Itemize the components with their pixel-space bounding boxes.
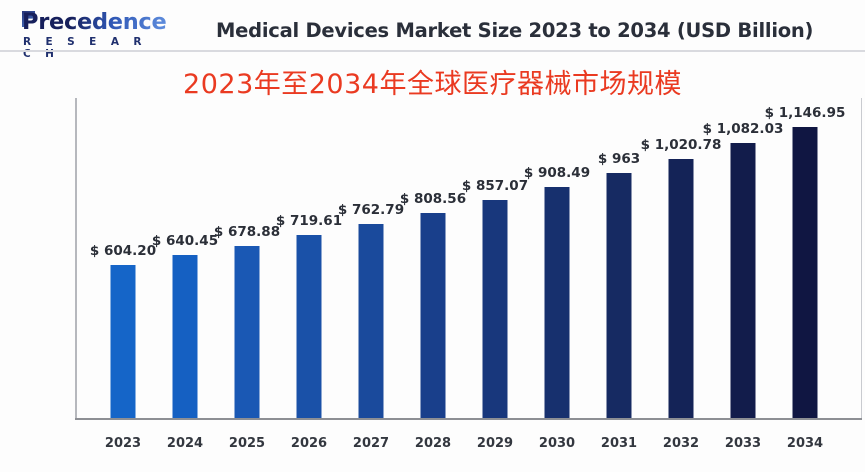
x-tick-2032: 2032 [650,436,712,451]
bar-2034 [793,127,818,418]
bar-2028 [421,213,446,418]
bar-value-label-2029: $ 857.07 [462,178,528,194]
bar-group-2030: $ 908.49 [526,98,588,418]
bar-2024 [173,255,198,418]
x-axis-tick-labels: 2023202420252026202720282029203020312032… [75,436,862,460]
bar-group-2024: $ 640.45 [154,98,216,418]
bar-group-2027: $ 762.79 [340,98,402,418]
bar-group-2023: $ 604.20 [92,98,154,418]
bar-value-label-2030: $ 908.49 [524,165,590,181]
bar-2029 [483,200,508,418]
x-axis-line [75,418,862,420]
x-tick-2028: 2028 [402,436,464,451]
bar-series: $ 604.20$ 640.45$ 678.88$ 719.61$ 762.79… [75,98,862,418]
x-tick-2025: 2025 [216,436,278,451]
x-tick-2027: 2027 [340,436,402,451]
bar-value-label-2024: $ 640.45 [152,233,218,249]
bar-value-label-2026: $ 719.61 [276,213,342,229]
x-tick-2024: 2024 [154,436,216,451]
bar-value-label-2025: $ 678.88 [214,224,280,240]
bar-2031 [607,173,632,418]
header-divider [0,50,865,52]
x-tick-2029: 2029 [464,436,526,451]
bar-group-2033: $ 1,082.03 [712,98,774,418]
page-title: Medical Devices Market Size 2023 to 2034… [216,19,816,42]
chart-subtitle-chinese: 2023年至2034年全球医疗器械市场规模 [0,62,865,101]
bar-value-label-2027: $ 762.79 [338,202,404,218]
bar-group-2026: $ 719.61 [278,98,340,418]
brand-subtitle: R E S E A R C H [23,36,156,60]
chart-page: Precedence R E S E A R C H Medical Devic… [0,0,865,472]
chart-plot-area: $ 604.20$ 640.45$ 678.88$ 719.61$ 762.79… [75,98,862,420]
x-tick-2034: 2034 [774,436,836,451]
x-tick-2033: 2033 [712,436,774,451]
bar-2027 [359,224,384,418]
bar-group-2028: $ 808.56 [402,98,464,418]
x-tick-2026: 2026 [278,436,340,451]
bar-value-label-2028: $ 808.56 [400,191,466,207]
bar-2033 [731,143,756,418]
bar-group-2032: $ 1,020.78 [650,98,712,418]
bar-group-2025: $ 678.88 [216,98,278,418]
bar-value-label-2033: $ 1,082.03 [703,121,784,137]
bar-2023 [111,265,136,418]
precedence-research-logo: Precedence R E S E A R C H [8,10,156,48]
x-tick-2031: 2031 [588,436,650,451]
bar-group-2029: $ 857.07 [464,98,526,418]
bar-value-label-2031: $ 963 [598,151,640,167]
bar-2025 [235,246,260,418]
x-tick-2023: 2023 [92,436,154,451]
bar-value-label-2034: $ 1,146.95 [765,105,846,121]
bar-2026 [297,235,322,418]
bar-value-label-2023: $ 604.20 [90,243,156,259]
x-tick-2030: 2030 [526,436,588,451]
page-header: Precedence R E S E A R C H Medical Devic… [0,0,865,51]
bar-2032 [669,159,694,418]
bar-group-2034: $ 1,146.95 [774,98,836,418]
bar-2030 [545,187,570,418]
bar-value-label-2032: $ 1,020.78 [641,137,722,153]
brand-name: Precedence [22,10,166,35]
